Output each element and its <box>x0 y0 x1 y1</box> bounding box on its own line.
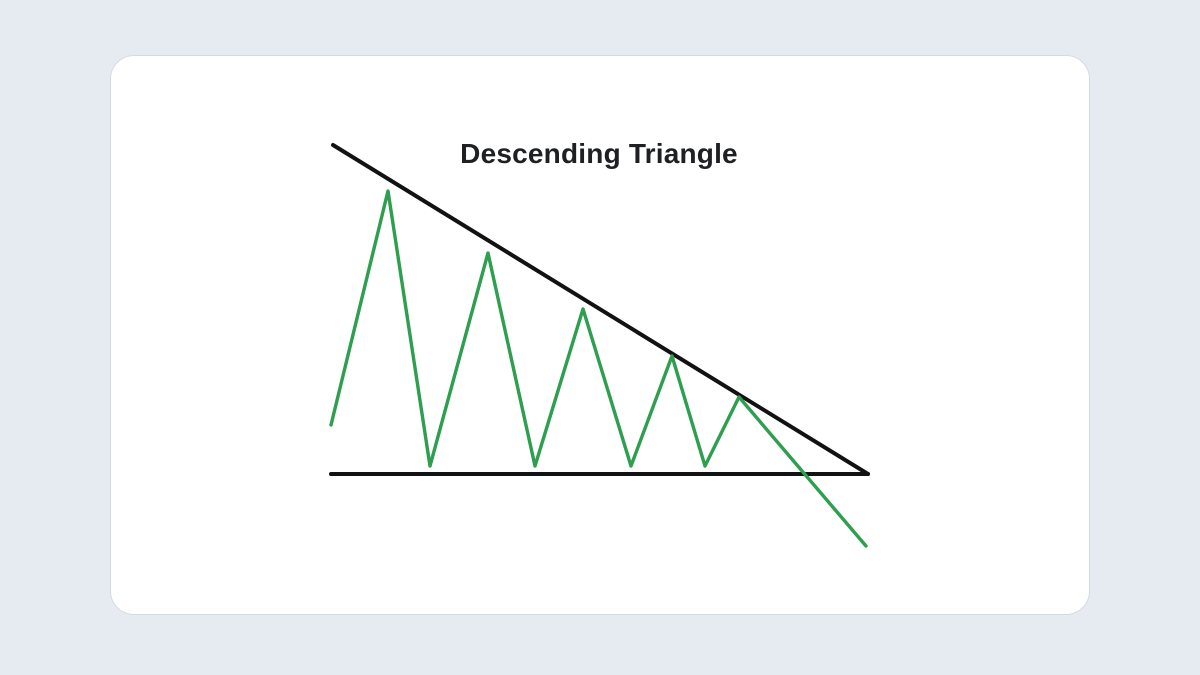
page-title: Descending Triangle <box>460 138 738 169</box>
resistance-trendline <box>333 145 868 474</box>
price-action-line <box>331 191 866 546</box>
page-root: Descending Triangle <box>0 0 1200 675</box>
descending-triangle-figure: Descending Triangle <box>0 0 1200 675</box>
